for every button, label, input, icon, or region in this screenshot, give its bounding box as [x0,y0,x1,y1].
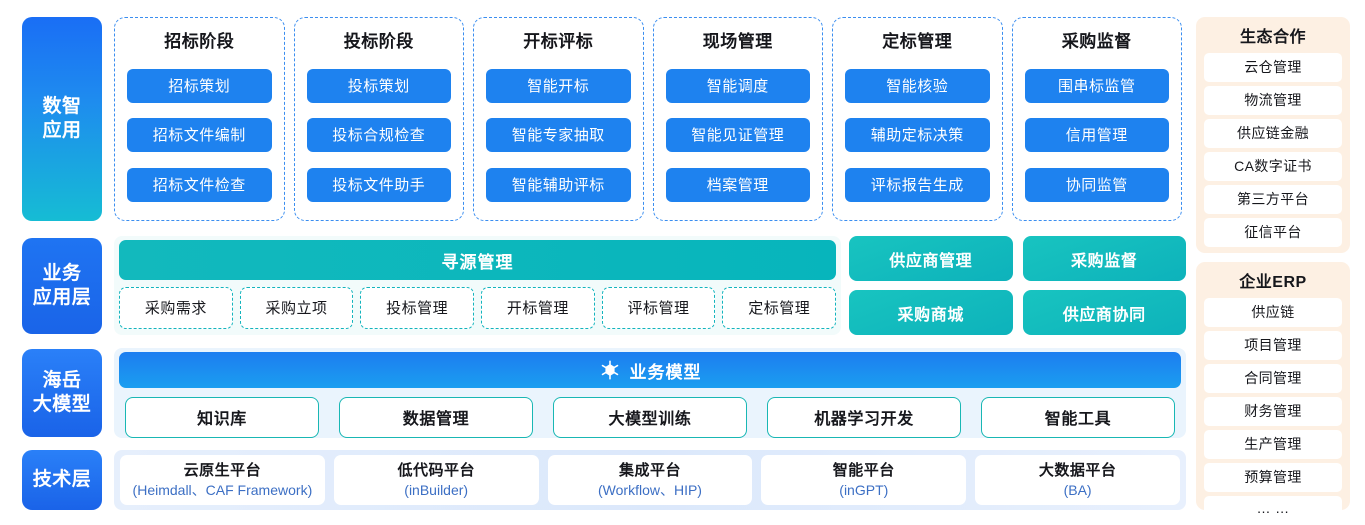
tech-tile-name: 智能平台 [833,462,895,480]
sourcing-item[interactable]: 采购需求 [119,287,233,329]
phase-title: 招标阶段 [127,27,272,52]
side-panel-title: 生态合作 [1204,23,1342,47]
phase-item[interactable]: 协同监管 [1025,168,1170,202]
phase-item[interactable]: 辅助定标决策 [845,118,990,152]
phase-item[interactable]: 招标策划 [127,69,272,103]
tech-tile-subtitle: (inBuilder) [404,482,468,499]
stage-label-technology-layer: 技术层 [22,450,102,510]
phase-item-list: 智能开标 智能专家抽取 智能辅助评标 [486,61,631,210]
model-capability-intelligent-tools[interactable]: 智能工具 [981,397,1175,438]
phase-item[interactable]: 招标文件检查 [127,168,272,202]
phase-item[interactable]: 投标策划 [307,69,452,103]
row-haiyue-large-model: 业务模型 知识库 数据管理 大模型训练 机器学习开发 智能工具 [114,348,1186,438]
phase-item[interactable]: 招标文件编制 [127,118,272,152]
tech-tile-name: 云原生平台 [184,462,262,480]
sourcing-management-items: 采购需求 采购立项 投标管理 开标管理 评标管理 定标管理 [119,287,836,329]
stage-label-text: 技术层 [33,468,92,492]
tech-tile-subtitle: (Heimdall、CAF Framework) [133,482,313,499]
business-tile-supplier-management[interactable]: 供应商管理 [849,236,1013,281]
phase-item[interactable]: 智能辅助评标 [486,168,631,202]
side-panel-title: 企业ERP [1204,268,1342,292]
phase-item[interactable]: 智能专家抽取 [486,118,631,152]
sourcing-item[interactable]: 开标管理 [481,287,595,329]
side-panel-item[interactable]: 供应链 [1204,298,1342,327]
model-capability-model-training[interactable]: 大模型训练 [553,397,747,438]
side-panel-item[interactable]: 项目管理 [1204,331,1342,360]
tech-tile-subtitle: (Workflow、HIP) [598,482,702,499]
phase-item[interactable]: 智能核验 [845,69,990,103]
phase-item[interactable]: 智能开标 [486,69,631,103]
side-panel-eco-cooperation: 生态合作 云仓管理 物流管理 供应链金融 CA数字证书 第三方平台 征信平台 [1196,17,1350,253]
tech-tile-big-data-platform[interactable]: 大数据平台 (BA) [975,455,1180,505]
side-panel-item[interactable]: 物流管理 [1204,86,1342,115]
phase-item-list: 投标策划 投标合规检查 投标文件助手 [307,61,452,210]
phase-item-list: 智能调度 智能见证管理 档案管理 [666,61,811,210]
model-capability-knowledge-base[interactable]: 知识库 [125,397,319,438]
sourcing-item[interactable]: 定标管理 [722,287,836,329]
phase-card-bid-opening-evaluation: 开标评标 智能开标 智能专家抽取 智能辅助评标 [473,17,644,221]
tech-tile-integration-platform[interactable]: 集成平台 (Workflow、HIP) [548,455,753,505]
model-capability-ml-development[interactable]: 机器学习开发 [767,397,961,438]
phase-title: 开标评标 [486,27,631,52]
model-star-icon [599,359,621,381]
tech-tile-name: 低代码平台 [397,462,475,480]
row-business-application-layer: 寻源管理 采购需求 采购立项 投标管理 开标管理 评标管理 定标管理 供应商管理… [114,236,1186,335]
business-tile-supplier-collaboration[interactable]: 供应商协同 [1023,290,1187,335]
phase-item[interactable]: 投标文件助手 [307,168,452,202]
sourcing-item[interactable]: 评标管理 [602,287,716,329]
side-panel-item[interactable]: 云仓管理 [1204,53,1342,82]
stage-label-text: 海岳大模型 [33,369,92,417]
architecture-diagram: 数智应用 业务应用层 海岳大模型 技术层 招标阶段 招标策划 招标文件编制 招标… [0,0,1365,525]
phase-card-site-management: 现场管理 智能调度 智能见证管理 档案管理 [653,17,824,221]
business-tile-procurement-supervision[interactable]: 采购监督 [1023,236,1187,281]
phase-item-list: 招标策划 招标文件编制 招标文件检查 [127,61,272,210]
sourcing-management-header[interactable]: 寻源管理 [119,240,836,280]
sourcing-item[interactable]: 采购立项 [240,287,354,329]
side-panel-item[interactable]: 第三方平台 [1204,185,1342,214]
phase-card-procurement-supervision: 采购监督 围串标监管 信用管理 协同监管 [1012,17,1183,221]
phase-item-list: 围串标监管 信用管理 协同监管 [1025,61,1170,210]
tech-tile-name: 大数据平台 [1039,462,1117,480]
phase-title: 采购监督 [1025,27,1170,52]
phase-card-bidding-preparation: 招标阶段 招标策划 招标文件编制 招标文件检查 [114,17,285,221]
model-capability-data-management[interactable]: 数据管理 [339,397,533,438]
stage-label-business-application-layer: 业务应用层 [22,238,102,334]
phase-card-tender-submission: 投标阶段 投标策划 投标合规检查 投标文件助手 [294,17,465,221]
sourcing-management-group: 寻源管理 采购需求 采购立项 投标管理 开标管理 评标管理 定标管理 [114,236,841,335]
row-technology-layer: 云原生平台 (Heimdall、CAF Framework) 低代码平台 (in… [114,450,1186,510]
business-model-label: 业务模型 [630,358,702,383]
business-tile-procurement-mall[interactable]: 采购商城 [849,290,1013,335]
side-panel-enterprise-erp: 企业ERP 供应链 项目管理 合同管理 财务管理 生产管理 预算管理 … … [1196,262,1350,510]
phase-item[interactable]: 投标合规检查 [307,118,452,152]
phase-title: 现场管理 [666,27,811,52]
tech-tile-low-code-platform[interactable]: 低代码平台 (inBuilder) [334,455,539,505]
side-panel-item[interactable]: 合同管理 [1204,364,1342,393]
side-panel-item[interactable]: 征信平台 [1204,218,1342,247]
side-panel-item[interactable]: 财务管理 [1204,397,1342,426]
phase-card-award-management: 定标管理 智能核验 辅助定标决策 评标报告生成 [832,17,1003,221]
phase-item[interactable]: 围串标监管 [1025,69,1170,103]
side-panel-item[interactable]: 生产管理 [1204,430,1342,459]
tech-tile-cloud-native-platform[interactable]: 云原生平台 (Heimdall、CAF Framework) [120,455,325,505]
stage-label-text: 数智应用 [42,95,81,143]
phase-item[interactable]: 信用管理 [1025,118,1170,152]
side-panel-item[interactable]: CA数字证书 [1204,152,1342,181]
tech-tile-subtitle: (inGPT) [839,482,888,499]
phase-item-list: 智能核验 辅助定标决策 评标报告生成 [845,61,990,210]
tech-tile-intelligent-platform[interactable]: 智能平台 (inGPT) [761,455,966,505]
phase-item[interactable]: 评标报告生成 [845,168,990,202]
side-panel-item-more[interactable]: … … [1204,496,1342,521]
business-module-tiles: 供应商管理 采购监督 采购商城 供应商协同 [849,236,1186,335]
stage-label-digital-intelligent-application: 数智应用 [22,17,102,221]
model-capability-list: 知识库 数据管理 大模型训练 机器学习开发 智能工具 [119,397,1181,438]
phase-item[interactable]: 档案管理 [666,168,811,202]
tech-tile-name: 集成平台 [619,462,681,480]
phase-item[interactable]: 智能调度 [666,69,811,103]
stage-label-haiyue-large-model: 海岳大模型 [22,349,102,437]
row-digital-intelligent-application: 招标阶段 招标策划 招标文件编制 招标文件检查 投标阶段 投标策划 投标合规检查… [114,17,1182,221]
phase-item[interactable]: 智能见证管理 [666,118,811,152]
business-model-header[interactable]: 业务模型 [119,352,1181,388]
phase-title: 投标阶段 [307,27,452,52]
side-panel-item[interactable]: 供应链金融 [1204,119,1342,148]
tech-tile-subtitle: (BA) [1064,482,1092,499]
side-panel-item[interactable]: 预算管理 [1204,463,1342,492]
sourcing-item[interactable]: 投标管理 [360,287,474,329]
phase-title: 定标管理 [845,27,990,52]
stage-label-text: 业务应用层 [33,262,92,310]
